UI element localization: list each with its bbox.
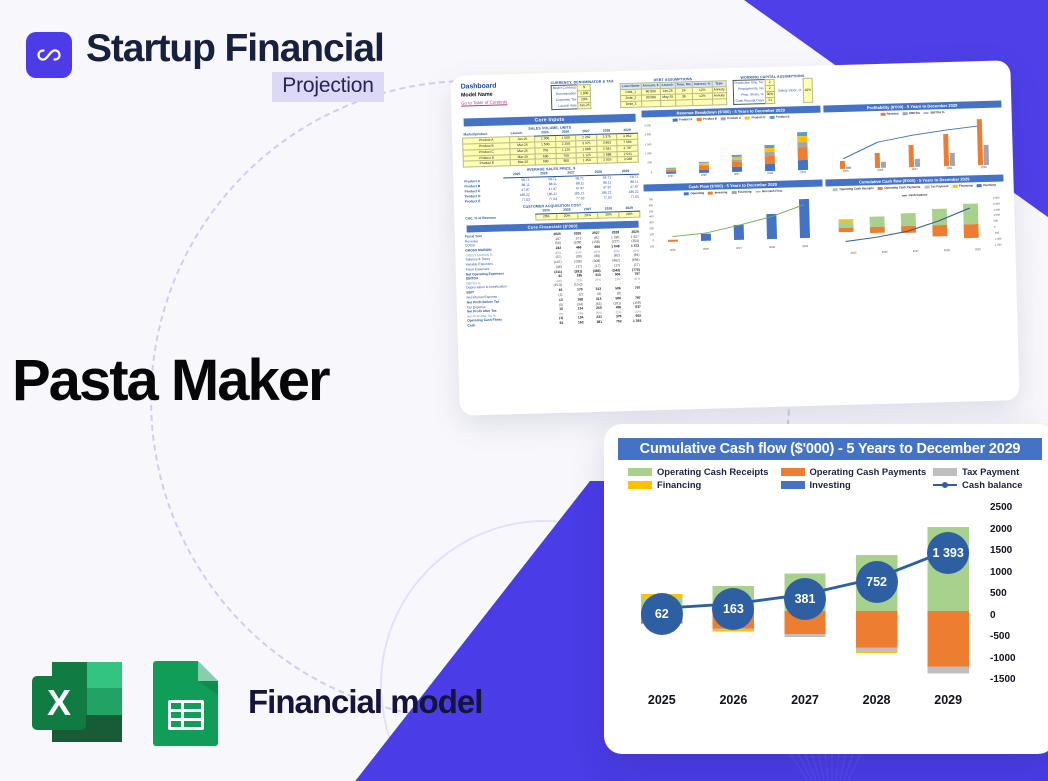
y-tick: 2 000 [642,133,651,136]
cac-value[interactable]: 20% [536,213,557,220]
debt-cell[interactable] [675,99,693,105]
fin-cell: 381 [585,320,604,325]
y-axis: 2500 2000 1500 1000 500 0 -500 -1000 -15… [990,502,1042,685]
legend-item-operating-cash-receipts: Operating Cash Receipts [628,466,777,477]
ap-value: 77.03 [531,197,558,203]
cac-value[interactable]: 20% [557,213,578,220]
legend-label: Tax Payment [962,466,1019,477]
sv-product[interactable]: Product E [463,160,510,167]
y-tick: -1 000 [994,237,1005,240]
legend-label: Operating [690,191,704,195]
y-tick: 1000 [990,567,1042,578]
safety-stock-value[interactable]: 10% [803,78,813,102]
legend-label: Product E [776,115,790,119]
fin-cell: 1 393 [624,319,644,324]
chart-legend: Operating Cash Receipts Operating Cash P… [618,460,1042,492]
ap-value: 77.03 [504,198,531,204]
legend-label: Financing [959,184,973,188]
cac-value[interactable]: 20% [598,212,619,219]
x-tick: 2029 [922,693,974,707]
legend-label: EBITDA [909,111,920,115]
currency-row-value[interactable]: Jan-25 [578,102,591,108]
net-cash-flow-line [655,195,822,248]
y-tick: 500 [643,162,652,165]
y-tick: 2500 [990,502,1042,513]
x-tick: 2028 [946,167,952,174]
y-tick: 100 [645,233,654,236]
y-tick: 1 500 [993,208,1004,211]
format-badges: X Financial model [30,658,482,746]
debt-cell[interactable]: Annuity [712,87,726,93]
debt-cell[interactable] [693,99,713,105]
y-tick: 1 000 [643,152,652,155]
legend-label: Product C [727,116,741,120]
brand-logo [26,32,72,78]
x-tick: 2027 [736,247,742,254]
fin-cell: 163 [565,320,585,325]
wc-table: Production time, No2 Prepayments, No2 Pr… [732,79,775,105]
bars [827,116,1001,169]
legend-label: EBITDA % [930,110,944,114]
chart-plot-area: 700 600 500 400 300 200 100 0 -100 [644,193,824,256]
x-tick: 2028 [769,246,775,253]
cac-value[interactable]: 20% [577,212,598,219]
x-tick: 2029 [975,248,981,255]
debt-col-header: Interest, % [692,81,712,87]
data-point-bubble: 752 [856,561,898,603]
svg-text:X: X [47,682,71,723]
legend-item-operating-cash-payments: Operating Cash Payments [781,466,930,477]
y-tick: 600 [644,204,653,207]
working-capital-block: WORKING CAPITAL ASSUMPTIONS Production t… [732,74,813,105]
chart-cash-flow[interactable]: Cash Flow ($'000) - 5 Years to December … [643,179,824,264]
cac-row-label: CAC, % of Revenue [464,214,536,222]
cumulative-cash-flow-card[interactable]: Cumulative Cash flow ($'000) - 5 Years t… [604,424,1048,754]
x-tick: 2025 [636,693,688,707]
ap-value: 77.03 [558,196,585,202]
x-tick: 2025 [670,248,676,255]
y-tick: 500 [990,588,1042,599]
legend-item-investing: Investing [781,479,930,490]
ap-value: 77.03 [613,195,640,201]
x-tick: 2029 [800,171,806,178]
brand-subtitle: Projection [272,72,383,102]
x-tick: 2027 [779,693,831,707]
brand-header: Startup Financial Projection [26,28,384,102]
y-tick: 1 500 [642,143,651,146]
x-tick: 2029 [981,166,987,173]
bars [653,121,820,174]
legend-label: Operating Cash Payments [884,185,920,190]
sv-launch[interactable]: Mar-25 [510,159,535,166]
debt-table: Loan Name Amount, $ Launch Term, Mo Inte… [620,80,727,108]
chart-plot-area: 2500 2000 1500 1000 500 0 -500 -1000 -15… [618,500,1042,715]
y-axis: 700 600 500 400 300 200 100 0 -100 [644,198,654,248]
sv-value[interactable]: 2 025 [597,157,618,164]
debt-cell[interactable] [661,100,676,106]
y-tick: -100 [645,245,654,248]
legend-item-financing: Financing [628,479,777,490]
y-tick: 500 [994,220,1005,223]
y-tick: 700 [644,198,653,201]
toc-link[interactable]: Go to Table of Contents [461,98,545,105]
infinity-link-icon [34,40,64,70]
x-tick: 2025 [668,174,674,181]
legend-label: Operating Cash Payments [810,466,927,477]
legend-label: Operating Cash Receipts [657,466,769,477]
wc-row-value[interactable]: 21 [765,97,775,103]
legend-label: Product A [679,117,693,121]
chart-profitability[interactable]: Profitability ($'000) - 5 Years to Decem… [823,100,1003,177]
safety-stock-label: Safety Stock, % [777,79,803,103]
brand-title: Startup Financial [86,28,384,70]
legend-label: Tax Payment [931,184,949,188]
x-tick: 2026 [882,250,888,257]
chart-revenue-breakdown[interactable]: Revenue Breakdown ($'000) - 5 Years to D… [641,105,821,182]
avg-price-table: 2025 2026 2027 2028 2029 Product A 58.71… [463,169,640,205]
y-tick: 0 [643,171,652,174]
cash-balance-bubbles: 621633817521 393 [626,502,984,685]
debt-cell[interactable]: Annuity [712,93,726,99]
debt-col-header: Amount, $ [641,83,660,89]
data-point-bubble: 62 [641,593,683,635]
y-tick: -1 500 [994,243,1005,246]
fin-cell: 752 [604,319,624,324]
x-tick: 2025 [843,170,849,177]
chart-plot-area: 2025 2026 2027 2028 2029 [823,114,1003,177]
legend-label: Revenue [887,112,899,116]
legend-label: Product B [703,117,717,121]
data-point-bubble: 163 [712,588,754,630]
legend-label: Investing [983,183,996,187]
y-tick: -1500 [990,674,1042,685]
sv-value[interactable]: 600 [535,159,556,166]
legend-label: Net Cash Flow [762,189,782,194]
legend-item-tax-payment: Tax Payment [933,466,1040,477]
cash-balance-line-mini [828,199,994,252]
dashboard-heading: Dashboard [461,81,545,90]
debt-col-header: Launch [660,82,675,88]
google-sheets-icon [150,658,222,746]
page-title: Pasta Maker [12,352,329,410]
x-tick: 2025 [851,251,857,258]
legend-item-cash-balance: Cash balance [933,479,1040,490]
x-tick: 2026 [707,693,759,707]
legend-label: Cash balance [962,479,1022,490]
dashboard-model-name: Model Name [461,90,545,98]
y-axis: 2 500 2 000 1 500 1 000 500 0 [642,124,652,174]
legend-label: Operating Cash Receipts [839,186,873,191]
y-tick: 2 000 [993,202,1004,205]
y-tick: 0 [645,239,654,242]
data-point-bubble: 381 [784,578,826,620]
y-tick: -500 [990,631,1042,642]
chart-title: Cumulative Cash flow ($'000) - 5 Years t… [618,438,1042,460]
y-axis: 2 500 2 000 1 500 1 000 500 0 -500 -1 00… [993,196,1005,246]
debt-cell[interactable] [712,98,726,104]
x-tick: 2026 [877,169,883,176]
ap-product: Product E [464,199,504,205]
x-tick: 2027 [912,168,918,175]
x-tick: 2027 [734,173,740,180]
core-financials-table: Fiscal Year 2025 2026 2027 2028 2029 Rev… [465,230,644,329]
y-tick: 300 [645,222,654,225]
x-tick: 2028 [851,693,903,707]
debt-cell[interactable]: May-25 [660,94,675,100]
debt-cell[interactable]: Debt_3 [621,101,642,108]
fin-cell: 62 [545,321,565,326]
legend-label: Product D [752,115,766,119]
y-tick: 2 500 [993,196,1004,199]
x-tick: 2028 [767,172,773,179]
legend-label: Investing [715,190,728,194]
x-tick: 2028 [944,249,950,256]
x-tick: 2026 [703,247,709,254]
y-tick: -1000 [990,653,1042,664]
legend-label: Investing [810,479,851,490]
cac-value[interactable]: 20% [619,211,640,218]
x-tick: 2029 [802,245,808,252]
legend-label: Financing [657,479,701,490]
microsoft-excel-icon: X [30,658,124,746]
currency-assumptions-block: CURRENCY, DENOMINATOR & TAX Model Curren… [551,79,615,109]
sv-value[interactable]: 1 350 [576,158,597,165]
sales-volume-table: Market/product Launch 2025 2026 2027 202… [462,127,639,168]
y-tick: 0 [994,226,1005,229]
chart-plot-area: 2 500 2 000 1 500 1 000 500 0 [642,119,822,182]
currency-row-label: Launch date [552,103,578,110]
chart-plot-area: 2 500 2 000 1 500 1 000 500 0 -500 -1 00… [826,196,1006,259]
sv-value[interactable]: 900 [556,158,577,165]
y-tick: 0 [990,610,1042,621]
dashboard-preview-card[interactable]: Dashboard Model Name Go to Table of Cont… [450,60,1019,416]
x-axis: 2025 2026 2027 2028 2029 [626,689,984,711]
y-tick: 200 [645,227,654,230]
data-point-bubble: 1 393 [927,532,969,574]
sv-value[interactable]: 3 038 [618,157,639,164]
y-tick: 2000 [990,524,1042,535]
debt-col-header: Term, Mo [675,82,693,88]
safety-stock-table: Safety Stock, %10% [777,78,814,104]
debt-cell[interactable] [641,100,660,106]
currency-table: Model Currency$ Denomination1 000 Corpor… [551,84,592,110]
x-tick: 2026 [701,174,707,181]
legend-label: Cash balance [908,193,927,198]
y-tick: 400 [644,216,653,219]
y-tick: -500 [994,231,1005,234]
wc-row-label: Cash Receipt Days [733,97,765,104]
chart-cumulative-cash-flow-mini[interactable]: Cumulative Cash flow ($'000) - 5 Years t… [825,174,1006,259]
debt-assumptions-block: DEBT ASSUMPTIONS Loan Name Amount, $ Lau… [620,76,728,108]
y-tick: 1 000 [993,214,1004,217]
x-tick: 2027 [913,250,919,257]
legend-label: Financing [738,190,752,194]
y-tick: 2 500 [642,124,651,127]
ap-value: 77.03 [585,195,612,201]
y-tick: 500 [644,210,653,213]
format-label: Financial model [248,683,482,721]
y-tick: 1500 [990,545,1042,556]
